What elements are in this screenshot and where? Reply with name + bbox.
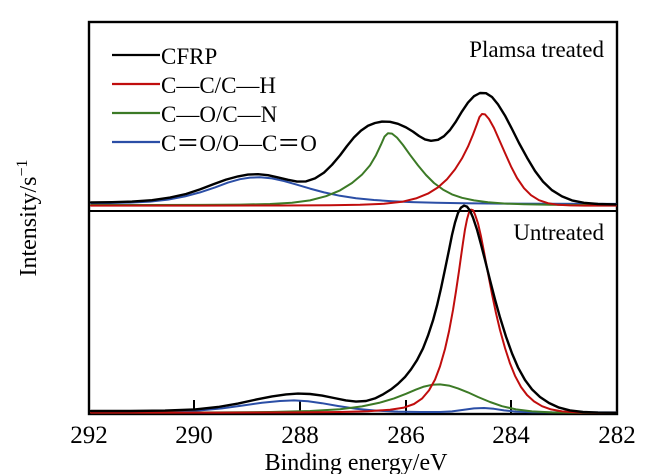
x-tick-label-286: 286: [387, 422, 425, 449]
x-tick-labels: 292 290 288 286 284 282: [70, 422, 636, 449]
legend-label-c-c-c-h: C—C/C—H: [161, 73, 276, 98]
xps-spectrum-figure: CFRP C—C/C—H C—O/C—N C＝O/O—C＝O Plamsa tr…: [0, 0, 656, 474]
legend: CFRP C—C/C—H C—O/C—N C＝O/O—C＝O: [112, 44, 317, 156]
curve-top-c-c-c-h: [91, 114, 616, 206]
legend-label-c-o-c-n: C—O/C—N: [161, 102, 278, 127]
legend-item-c-o-o-c-o[interactable]: C＝O/O—C＝O: [112, 131, 317, 156]
legend-item-c-c-c-h[interactable]: C—C/C—H: [112, 73, 276, 98]
y-axis-title-main: Intensity/s: [16, 177, 42, 277]
x-tick-label-290: 290: [175, 422, 213, 449]
y-axis-title-exponent: −1: [14, 159, 31, 176]
panel-label-plasma-treated: Plamsa treated: [469, 37, 604, 62]
y-axis-title: Intensity/s−1: [14, 159, 42, 276]
chart-svg: CFRP C—C/C—H C—O/C—N C＝O/O—C＝O Plamsa tr…: [0, 0, 656, 474]
x-tick-label-292: 292: [70, 422, 108, 449]
x-axis-title: Binding energy/eV: [265, 450, 449, 474]
x-tick-label-288: 288: [281, 422, 319, 449]
legend-item-c-o-c-n[interactable]: C—O/C—N: [112, 102, 278, 127]
legend-item-cfrp[interactable]: CFRP: [112, 44, 217, 69]
legend-label-c-o-o-c-o: C＝O/O—C＝O: [161, 131, 317, 156]
x-tick-label-282: 282: [598, 422, 636, 449]
legend-label-cfrp: CFRP: [161, 44, 217, 69]
y-axis-title-group: Intensity/s−1: [14, 159, 42, 276]
panel-label-untreated: Untreated: [513, 220, 604, 245]
x-tick-label-284: 284: [492, 422, 530, 449]
